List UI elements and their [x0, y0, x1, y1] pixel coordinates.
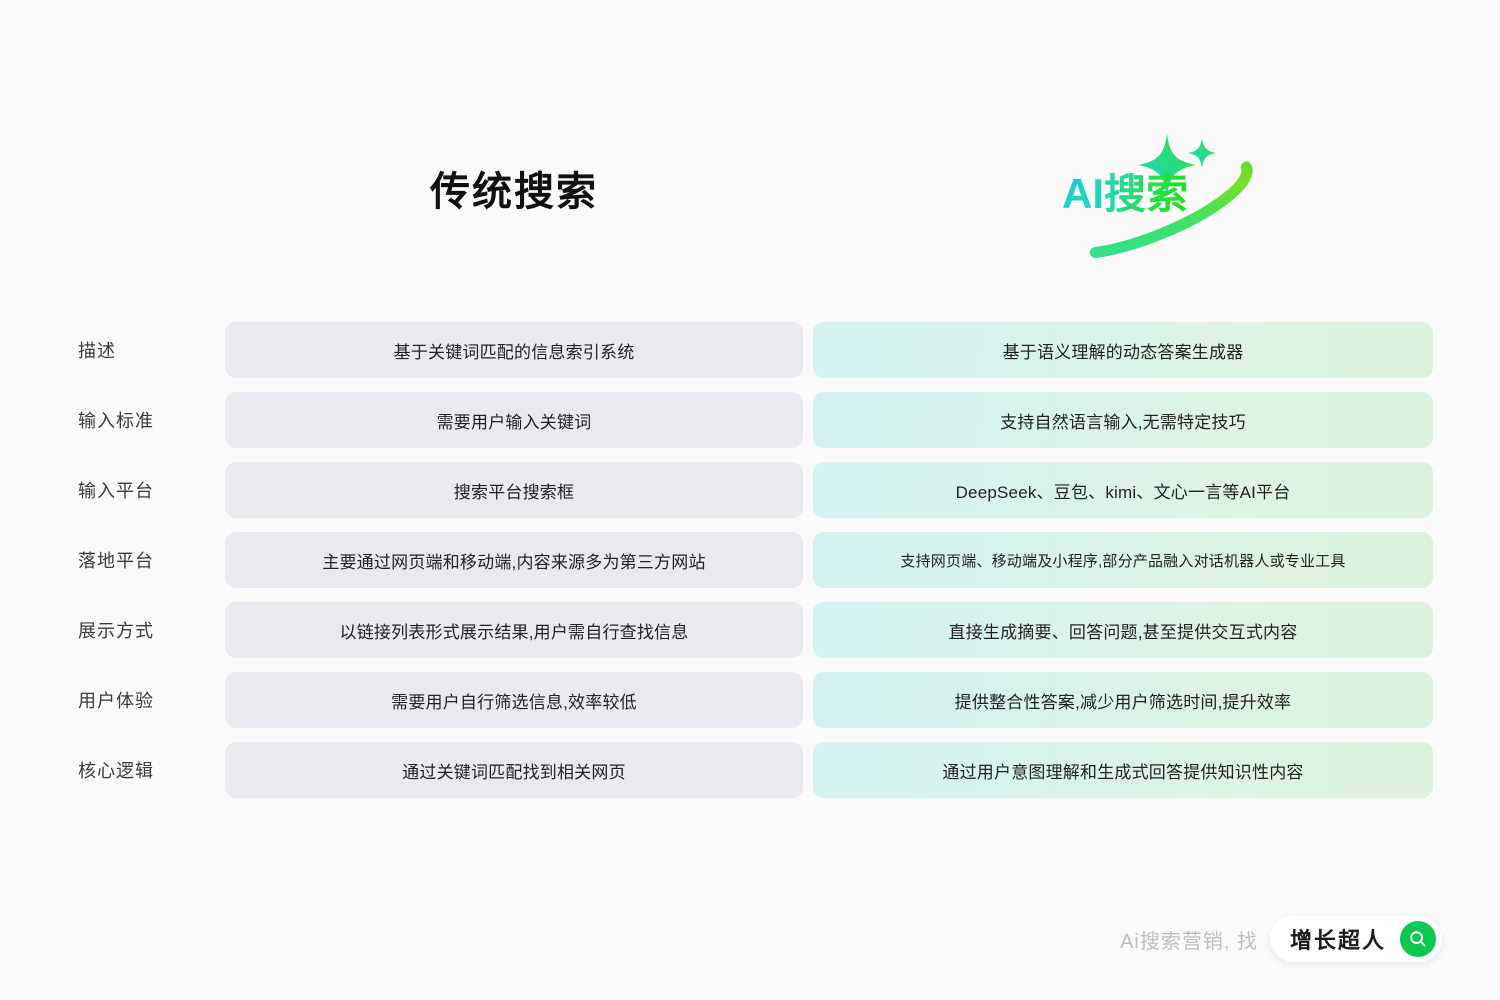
brand-pill[interactable]: 增长超人 [1270, 916, 1442, 962]
ai-cell: DeepSeek、豆包、kimi、文心一言等AI平台 [813, 462, 1433, 518]
search-icon [1408, 929, 1428, 949]
ai-cell: 支持网页端、移动端及小程序,部分产品融入对话机器人或专业工具 [813, 532, 1433, 588]
table-row: 输入标准 需要用户输入关键词 支持自然语言输入,无需特定技巧 [0, 392, 1500, 448]
table-row: 描述 基于关键词匹配的信息索引系统 基于语义理解的动态答案生成器 [0, 322, 1500, 378]
ai-search-logo-text: AI搜索 [1062, 173, 1188, 215]
ai-cell: 直接生成摘要、回答问题,甚至提供交互式内容 [813, 602, 1433, 658]
ai-search-logo: AI搜索 [1030, 128, 1270, 273]
traditional-cell: 通过关键词匹配找到相关网页 [225, 742, 803, 798]
footer-tagline: Ai搜索营销, 找 [1120, 925, 1258, 954]
traditional-cell: 主要通过网页端和移动端,内容来源多为第三方网站 [225, 532, 803, 588]
table-row: 输入平台 搜索平台搜索框 DeepSeek、豆包、kimi、文心一言等AI平台 [0, 462, 1500, 518]
row-label: 输入标准 [78, 392, 154, 448]
table-row: 展示方式 以链接列表形式展示结果,用户需自行查找信息 直接生成摘要、回答问题,甚… [0, 602, 1500, 658]
traditional-cell: 基于关键词匹配的信息索引系统 [225, 322, 803, 378]
row-label: 用户体验 [78, 672, 154, 728]
search-button[interactable] [1400, 921, 1436, 957]
traditional-cell: 需要用户自行筛选信息,效率较低 [225, 672, 803, 728]
traditional-cell: 搜索平台搜索框 [225, 462, 803, 518]
traditional-cell: 以链接列表形式展示结果,用户需自行查找信息 [225, 602, 803, 658]
ai-cell: 通过用户意图理解和生成式回答提供知识性内容 [813, 742, 1433, 798]
table-row: 落地平台 主要通过网页端和移动端,内容来源多为第三方网站 支持网页端、移动端及小… [0, 532, 1500, 588]
table-row: 用户体验 需要用户自行筛选信息,效率较低 提供整合性答案,减少用户筛选时间,提升… [0, 672, 1500, 728]
ai-cell: 基于语义理解的动态答案生成器 [813, 322, 1433, 378]
traditional-cell: 需要用户输入关键词 [225, 392, 803, 448]
slide-canvas: 传统搜索 [0, 0, 1500, 1000]
header-row: 传统搜索 [0, 0, 1500, 300]
row-label: 核心逻辑 [78, 742, 154, 798]
row-label: 展示方式 [78, 602, 154, 658]
page-title-traditional: 传统搜索 [225, 172, 803, 212]
brand-name: 增长超人 [1290, 923, 1386, 955]
row-label: 描述 [78, 322, 116, 378]
ai-cell: 支持自然语言输入,无需特定技巧 [813, 392, 1433, 448]
row-label: 落地平台 [78, 532, 154, 588]
row-label: 输入平台 [78, 462, 154, 518]
ai-cell: 提供整合性答案,减少用户筛选时间,提升效率 [813, 672, 1433, 728]
comparison-table: 描述 基于关键词匹配的信息索引系统 基于语义理解的动态答案生成器 输入标准 需要… [0, 322, 1500, 812]
table-row: 核心逻辑 通过关键词匹配找到相关网页 通过用户意图理解和生成式回答提供知识性内容 [0, 742, 1500, 798]
footer-watermark: Ai搜索营销, 找 增长超人 [1120, 916, 1442, 962]
